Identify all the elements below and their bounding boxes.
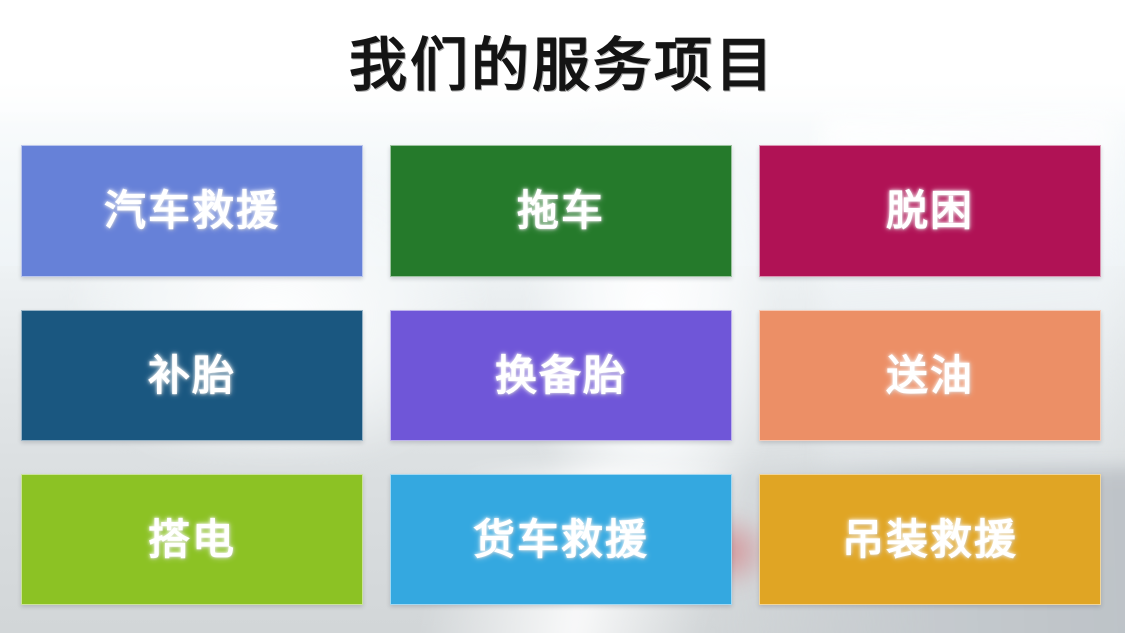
service-tile-label: 货车救援 [473,519,649,561]
page-title-area: 我们的服务项目 [0,18,1125,114]
service-tile-extrication[interactable]: 脱困 [759,145,1101,277]
service-tile-tire-repair[interactable]: 补胎 [21,310,363,441]
service-tile-tow-truck[interactable]: 拖车 [390,145,732,277]
service-tile-label: 吊装救援 [842,519,1018,561]
service-tile-hoisting-rescue[interactable]: 吊装救援 [759,474,1101,605]
service-grid: 汽车救援 拖车 脱困 补胎 换备胎 送油 搭电 货车救援 吊装救援 [21,145,1102,609]
service-tile-label: 拖车 [517,190,605,232]
service-tile-fuel-delivery[interactable]: 送油 [759,310,1101,441]
service-tile-label: 换备胎 [495,355,627,397]
service-tile-truck-rescue[interactable]: 货车救援 [390,474,732,605]
service-tile-car-rescue[interactable]: 汽车救援 [21,145,363,277]
service-tile-spare-tire-change[interactable]: 换备胎 [390,310,732,441]
service-poster: 我们的服务项目 汽车救援 拖车 脱困 补胎 换备胎 送油 搭电 货车救援 吊装救… [0,0,1125,633]
service-tile-label: 汽车救援 [104,190,280,232]
service-tile-jump-start[interactable]: 搭电 [21,474,363,605]
service-tile-label: 脱困 [886,190,974,232]
page-title: 我们的服务项目 [349,37,776,95]
service-tile-label: 送油 [886,355,974,397]
service-tile-label: 补胎 [148,355,236,397]
service-tile-label: 搭电 [148,519,236,561]
